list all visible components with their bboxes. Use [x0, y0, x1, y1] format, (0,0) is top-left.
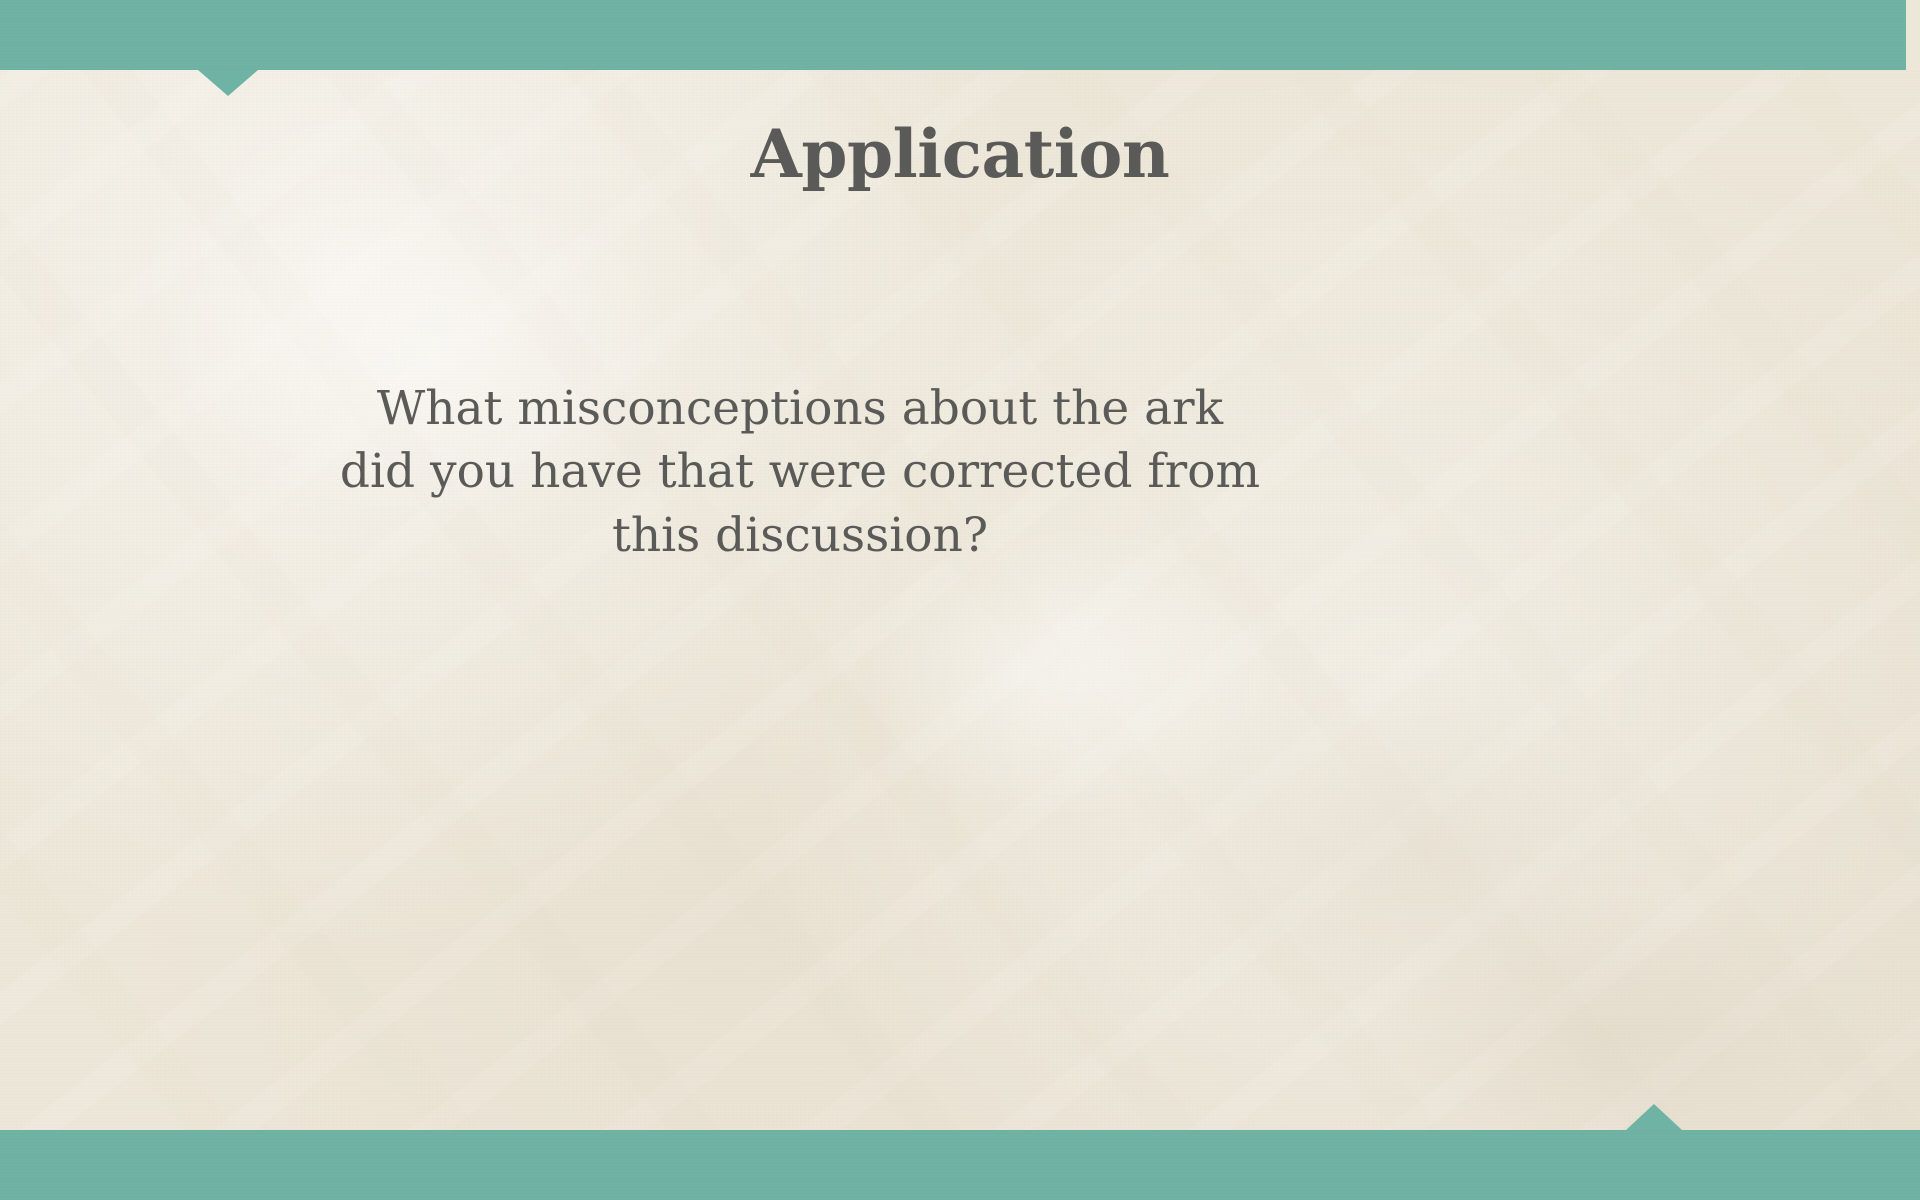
slide-content: Application What misconceptions about th… [0, 0, 1920, 1200]
slide-body-text: What misconceptions about the ark did yo… [300, 377, 1300, 567]
body-line-2: did you have that were corrected from [300, 440, 1300, 503]
presentation-slide: Application What misconceptions about th… [0, 0, 1920, 1200]
body-line-3: this discussion? [300, 504, 1300, 567]
slide-title: Application [0, 118, 1920, 191]
body-line-1: What misconceptions about the ark [300, 377, 1300, 440]
